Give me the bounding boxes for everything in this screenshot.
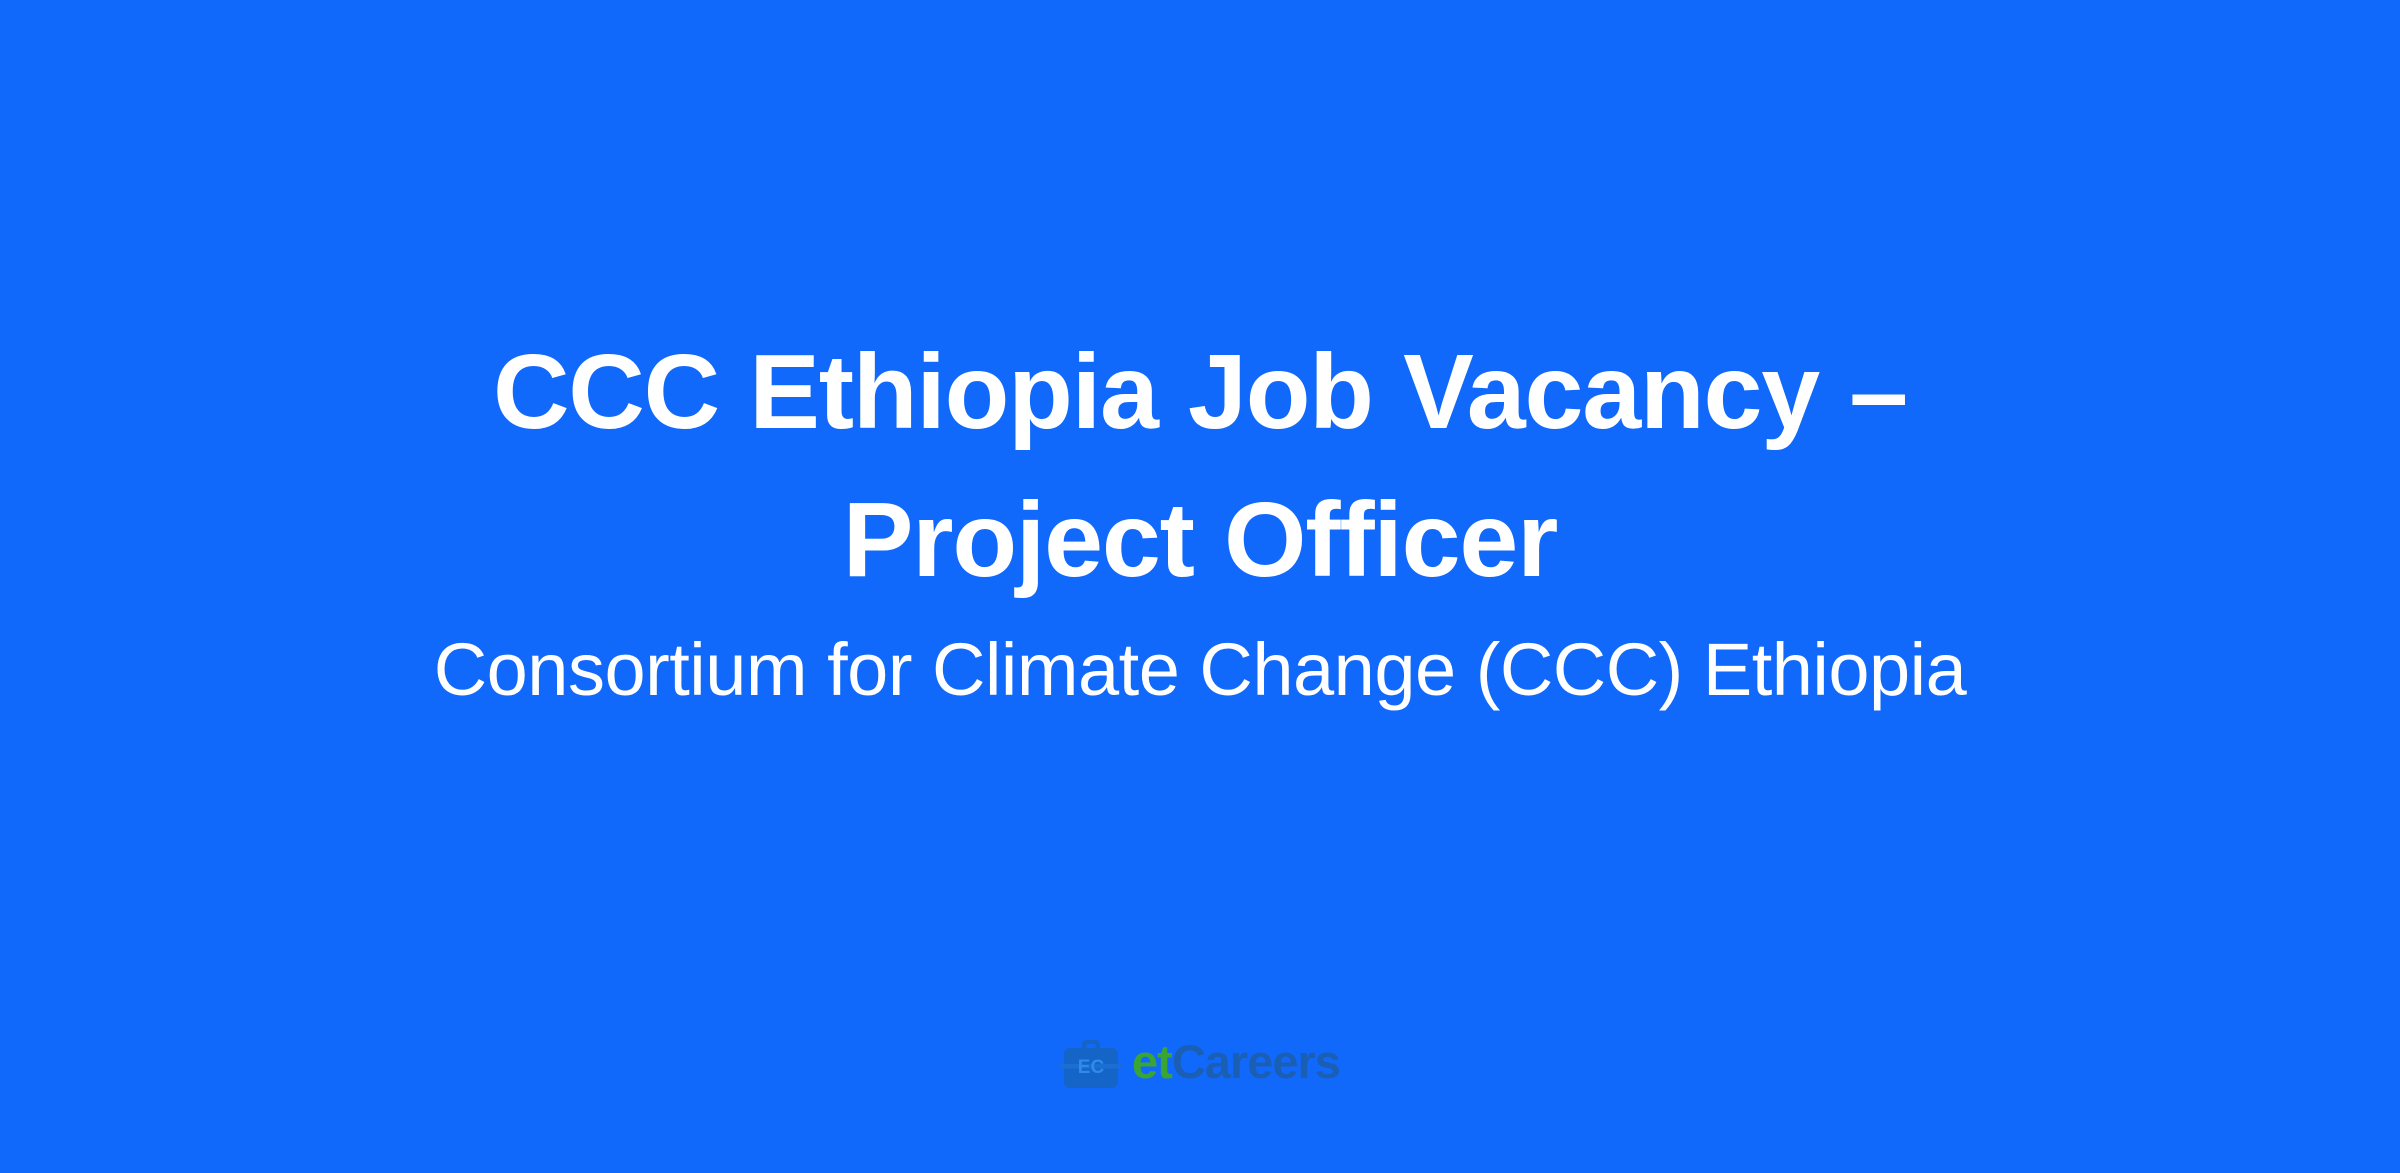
page-title: CCC Ethiopia Job Vacancy – Project Offic…	[390, 318, 2010, 614]
brand-logo: EC etCareers	[0, 1032, 2400, 1092]
job-vacancy-card: CCC Ethiopia Job Vacancy – Project Offic…	[0, 0, 2400, 1173]
briefcase-icon: EC	[1060, 1032, 1122, 1092]
page-subtitle: Consortium for Climate Change (CCC) Ethi…	[310, 614, 2090, 720]
brand-wordmark-suffix: Careers	[1172, 1035, 1340, 1088]
hero-text-block: CCC Ethiopia Job Vacancy – Project Offic…	[0, 318, 2400, 720]
svg-text:EC: EC	[1078, 1057, 1105, 1078]
brand-wordmark-prefix: et	[1132, 1035, 1172, 1088]
brand-wordmark: etCareers	[1132, 1033, 1340, 1091]
